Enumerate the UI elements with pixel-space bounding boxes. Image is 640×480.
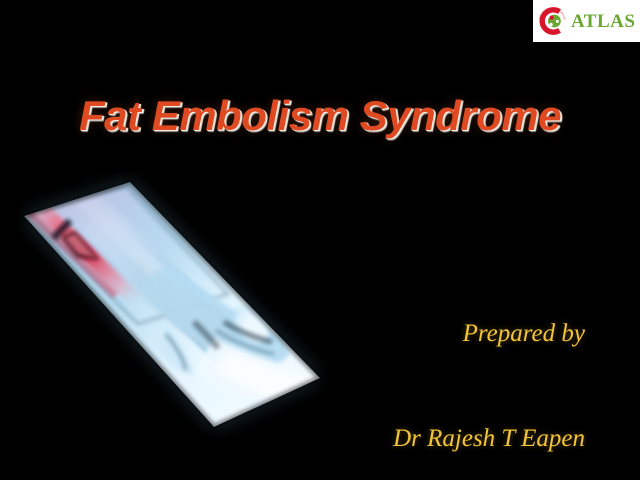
atlas-circular-emblem: ATLAS MEDICAL GROUP xyxy=(536,5,568,37)
byline-block: Prepared by Dr Rajesh T Eapen Atlas Hosp… xyxy=(393,246,585,480)
page-title: Fat Embolism Syndrome xyxy=(0,92,640,140)
presentation-slide: Fat Embolism Syndrome Prepared by Dr Raj… xyxy=(0,0,640,480)
xray-image xyxy=(18,172,328,437)
atlas-logo: ATLAS MEDICAL GROUP ATLAS xyxy=(533,0,640,42)
atlas-wordmark: ATLAS xyxy=(571,12,635,31)
xray-graphic xyxy=(18,172,328,437)
byline-line-author: Dr Rajesh T Eapen xyxy=(393,421,585,456)
atlas-emblem-graphic: ATLAS MEDICAL GROUP xyxy=(536,5,568,37)
byline-line-prepared-by: Prepared by xyxy=(393,316,585,351)
xray-film xyxy=(19,172,320,427)
